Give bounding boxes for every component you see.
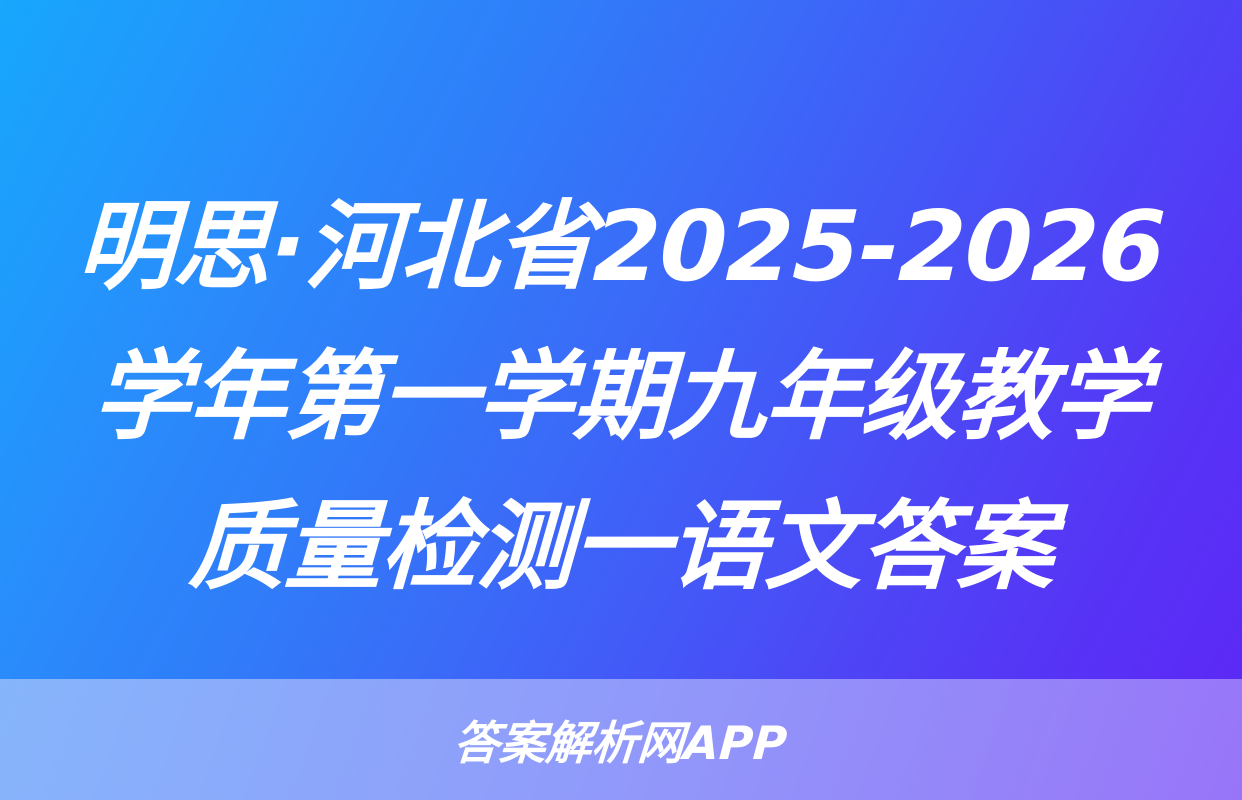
poster-canvas: 明思·河北省2025-2026 学年第一学期九年级教学 质量检测一语文答案 答案… (0, 0, 1242, 800)
headline-line-2: 学年第一学期九年级教学 (0, 322, 1242, 472)
headline-block: 明思·河北省2025-2026 学年第一学期九年级教学 质量检测一语文答案 (0, 172, 1242, 622)
headline-line-1: 明思·河北省2025-2026 (0, 172, 1242, 322)
headline-line-3: 质量检测一语文答案 (0, 472, 1242, 622)
watermark-app-label: 答案解析网APP (452, 707, 790, 773)
watermark-band: 答案解析网APP (0, 679, 1242, 800)
